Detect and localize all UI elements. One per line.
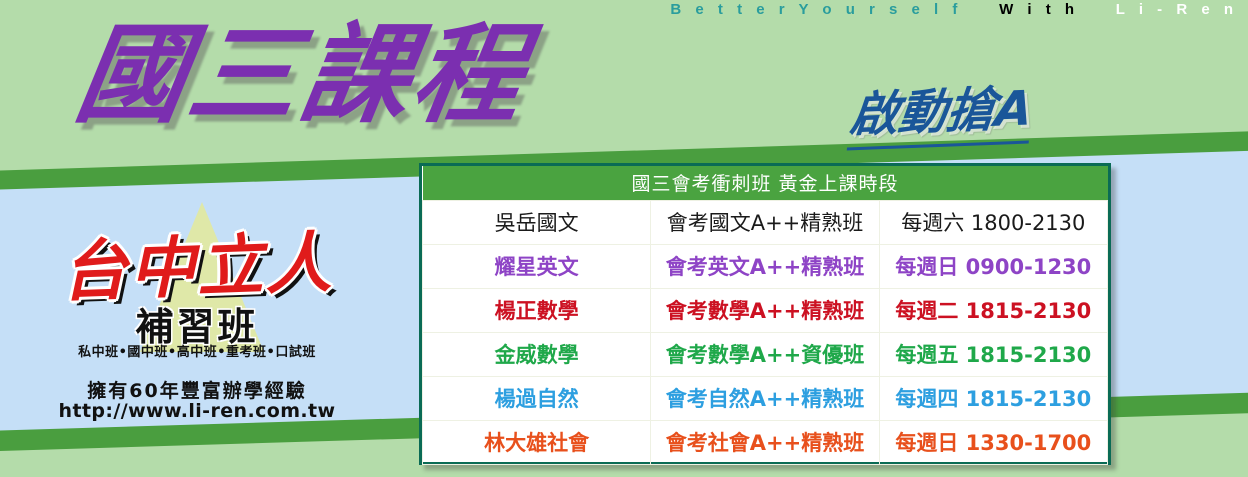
schedule-cell-course: 會考數學A++資優班: [651, 332, 879, 376]
schedule-cell-teacher: 楊正數學: [423, 288, 651, 332]
page-subtitle: 啟動搶A: [847, 69, 1037, 151]
schedule-cell-teacher: 楊過自然: [423, 376, 651, 420]
page-title: 國三課程: [68, 10, 537, 142]
table-row: 金威數學會考數學A++資優班每週五 1815-2130: [423, 332, 1108, 376]
schedule-table: 國三會考衝刺班 黃金上課時段 吳岳國文會考國文A++精熟班每週六 1800-21…: [422, 166, 1108, 465]
schedule-header-title: 國三會考衝刺班 黃金上課時段: [423, 166, 1108, 200]
tagline-part1: B e t t e r Y o u r s e l f: [670, 1, 962, 18]
schedule-cell-time: 每週日 0900-1230: [879, 244, 1107, 288]
schedule-cell-course: 會考數學A++精熟班: [651, 288, 879, 332]
schedule-cell-teacher: 耀星英文: [423, 244, 651, 288]
tagline-part3: L i - R e n: [1116, 1, 1238, 18]
schedule-cell-time: 每週四 1815-2130: [879, 376, 1107, 420]
schedule-table-head: 國三會考衝刺班 黃金上課時段: [423, 166, 1108, 200]
schedule-cell-time: 每週五 1815-2130: [879, 332, 1107, 376]
table-row: 吳岳國文會考國文A++精熟班每週六 1800-2130: [423, 200, 1108, 244]
table-row: 楊過自然會考自然A++精熟班每週四 1815-2130: [423, 376, 1108, 420]
logo-experience-text: 擁有60年豐富辦學經驗: [22, 376, 372, 403]
schedule-cell-course: 會考國文A++精熟班: [651, 200, 879, 244]
schedule-cell-course: 會考英文A++精熟班: [651, 244, 879, 288]
schedule-table-container: 國三會考衝刺班 黃金上課時段 吳岳國文會考國文A++精熟班每週六 1800-21…: [419, 163, 1111, 465]
schedule-header-row: 國三會考衝刺班 黃金上課時段: [423, 166, 1108, 200]
brand-logo: 台中立人 補習班 私中班•國中班•高中班•重考班•口試班 擁有60年豐富辦學經驗…: [22, 196, 372, 426]
schedule-table-body: 吳岳國文會考國文A++精熟班每週六 1800-2130耀星英文會考英文A++精熟…: [423, 200, 1108, 464]
schedule-cell-time: 每週日 1330-1700: [879, 420, 1107, 464]
logo-website-url: http://www.li-ren.com.tw: [22, 400, 372, 422]
table-row: 楊正數學會考數學A++精熟班每週二 1815-2130: [423, 288, 1108, 332]
schedule-cell-time: 每週六 1800-2130: [879, 200, 1107, 244]
table-row: 林大雄社會會考社會A++精熟班每週日 1330-1700: [423, 420, 1108, 464]
schedule-cell-course: 會考社會A++精熟班: [651, 420, 879, 464]
schedule-cell-teacher: 金威數學: [423, 332, 651, 376]
schedule-cell-time: 每週二 1815-2130: [879, 288, 1107, 332]
promo-banner: B e t t e r Y o u r s e l f W i t h L i …: [0, 0, 1248, 477]
schedule-cell-teacher: 吳岳國文: [423, 200, 651, 244]
schedule-cell-teacher: 林大雄社會: [423, 420, 651, 464]
tagline-part2: W i t h: [999, 1, 1079, 18]
schedule-cell-course: 會考自然A++精熟班: [651, 376, 879, 420]
logo-class-tags: 私中班•國中班•高中班•重考班•口試班: [22, 341, 372, 360]
table-row: 耀星英文會考英文A++精熟班每週日 0900-1230: [423, 244, 1108, 288]
